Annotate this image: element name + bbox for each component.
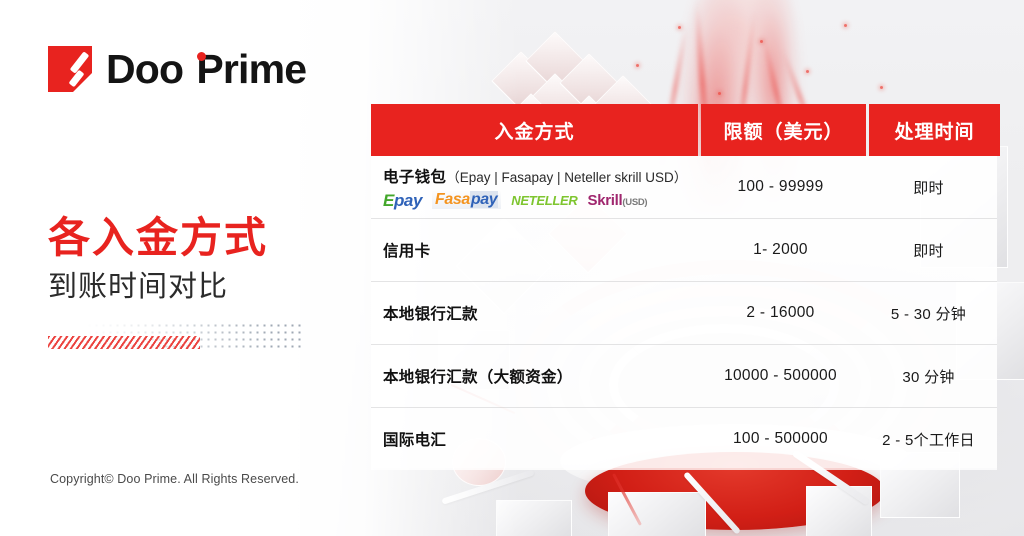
- geometric-block: [496, 500, 572, 536]
- table-row: 信用卡 1- 2000 即时: [371, 219, 997, 282]
- spark-particle: [760, 40, 763, 43]
- rod: [683, 471, 741, 534]
- cell-method: 电子钱包（Epay | Fasapay | Neteller skrill US…: [371, 157, 698, 217]
- method-sublabel: （Epay | Fasapay | Neteller skrill USD）: [446, 170, 687, 185]
- method-label: 国际电汇: [383, 432, 446, 449]
- decorative-accent: [48, 322, 304, 356]
- headline-subtitle: 到账时间对比: [48, 269, 338, 307]
- cell-limit: 1- 2000: [698, 233, 863, 267]
- cell-time: 即时: [863, 169, 994, 206]
- method-label: 信用卡: [383, 243, 430, 260]
- payment-brand-logos: Epay Fasapay NETELLER Skrill(USD): [383, 191, 647, 209]
- geometric-block: [806, 486, 872, 536]
- table-row: 本地银行汇款 2 - 16000 5 - 30 分钟: [371, 282, 997, 345]
- cell-time: 2 - 5个工作日: [863, 421, 994, 458]
- cell-time: 即时: [863, 232, 994, 269]
- brand-logo[interactable]: DooPrime: [48, 46, 306, 92]
- headline-block: 各入金方式 到账时间对比: [48, 214, 338, 307]
- neteller-logo: NETELLER: [511, 194, 577, 207]
- deposit-methods-table: 入金方式 限额（美元） 处理时间 电子钱包（Epay | Fasapay | N…: [371, 104, 997, 470]
- cell-limit: 100 - 500000: [698, 422, 863, 456]
- column-header-limit: 限额（美元）: [701, 104, 866, 156]
- geometric-block: [608, 492, 706, 536]
- fasapay-logo: Fasapay: [432, 191, 501, 209]
- spark-particle: [636, 64, 639, 67]
- rod-red: [612, 473, 642, 526]
- column-header-time: 处理时间: [869, 104, 1000, 156]
- cell-method: 本地银行汇款: [371, 294, 698, 332]
- cell-method: 国际电汇: [371, 420, 698, 458]
- cell-limit: 100 - 99999: [698, 170, 863, 204]
- left-panel: DooPrime 各入金方式 到账时间对比 Copyright© Doo Pri…: [0, 0, 360, 536]
- cell-method: 信用卡: [371, 231, 698, 269]
- brand-name: DooPrime: [106, 49, 306, 90]
- table-header-row: 入金方式 限额（美元） 处理时间: [371, 104, 997, 156]
- promo-banner: DooPrime 各入金方式 到账时间对比 Copyright© Doo Pri…: [0, 0, 1024, 536]
- headline-title: 各入金方式: [48, 214, 338, 261]
- cell-limit: 2 - 16000: [698, 296, 863, 330]
- cell-limit: 10000 - 500000: [698, 359, 863, 393]
- table-row: 本地银行汇款（大额资金） 10000 - 500000 30 分钟: [371, 345, 997, 408]
- method-label: 电子钱包: [383, 169, 446, 186]
- method-label: 本地银行汇款: [383, 306, 478, 323]
- cell-method: 本地银行汇款（大额资金）: [371, 357, 698, 395]
- rod: [441, 469, 534, 504]
- spark-particle: [844, 24, 847, 27]
- spark-particle: [806, 70, 809, 73]
- skrill-logo: Skrill(USD): [588, 193, 648, 208]
- red-hatch-bar: [48, 336, 200, 349]
- epay-logo: Epay: [383, 192, 422, 209]
- copyright-text: Copyright© Doo Prime. All Rights Reserve…: [50, 472, 299, 486]
- spark-particle: [678, 26, 681, 29]
- cell-time: 5 - 30 分钟: [863, 295, 994, 332]
- table-row: 电子钱包（Epay | Fasapay | Neteller skrill US…: [371, 156, 997, 219]
- doo-prime-mark-icon: [48, 46, 92, 92]
- table-body: 电子钱包（Epay | Fasapay | Neteller skrill US…: [371, 156, 997, 470]
- column-header-method: 入金方式: [371, 104, 698, 156]
- spark-particle: [880, 86, 883, 89]
- method-label: 本地银行汇款（大额资金）: [383, 369, 573, 386]
- spark-particle: [718, 92, 721, 95]
- table-row: 国际电汇 100 - 500000 2 - 5个工作日: [371, 408, 997, 470]
- cell-time: 30 分钟: [863, 358, 994, 395]
